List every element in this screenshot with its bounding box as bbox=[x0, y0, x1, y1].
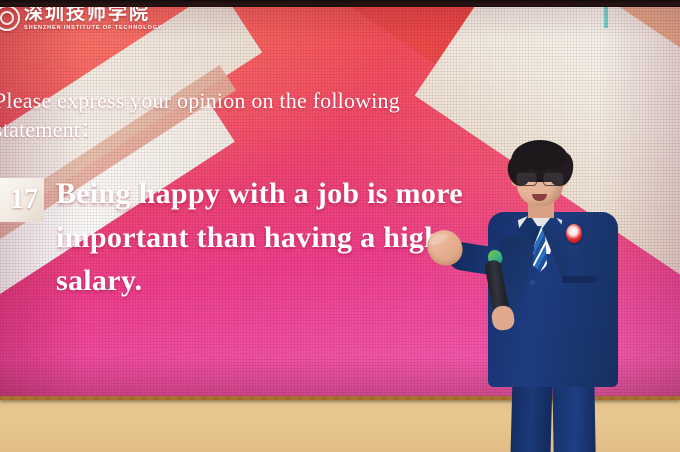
led-screen-top-frame bbox=[0, 0, 680, 7]
school-logo-text: 深圳技师学院 SHENZHEN INSTITUTE OF TECHNOLOGY bbox=[24, 4, 163, 32]
speaker-figure bbox=[470, 138, 645, 452]
teal-accent-mark bbox=[604, 6, 608, 28]
slide-prompt-line2: statement： bbox=[0, 115, 514, 144]
photo-scene: 深圳技师学院 SHENZHEN INSTITUTE OF TECHNOLOGY … bbox=[0, 0, 680, 452]
speaker-right-leg bbox=[552, 376, 597, 452]
speaker-hair-fringe bbox=[514, 150, 566, 170]
question-number-badge: 17 bbox=[0, 178, 44, 222]
school-emblem-icon bbox=[0, 5, 20, 31]
eyeglasses-icon bbox=[516, 172, 564, 184]
speaker-jacket-pocket bbox=[562, 276, 596, 283]
speaker-legs bbox=[508, 376, 600, 452]
speaker-red-badge bbox=[566, 224, 582, 243]
slide-prompt: Please express your opinion on the follo… bbox=[0, 86, 514, 144]
school-logo: 深圳技师学院 SHENZHEN INSTITUTE OF TECHNOLOGY bbox=[0, 4, 163, 32]
school-name-english: SHENZHEN INSTITUTE OF TECHNOLOGY bbox=[24, 26, 163, 32]
speaker-jacket-button bbox=[530, 280, 535, 285]
slide-prompt-line1: Please express your opinion on the follo… bbox=[0, 88, 400, 113]
